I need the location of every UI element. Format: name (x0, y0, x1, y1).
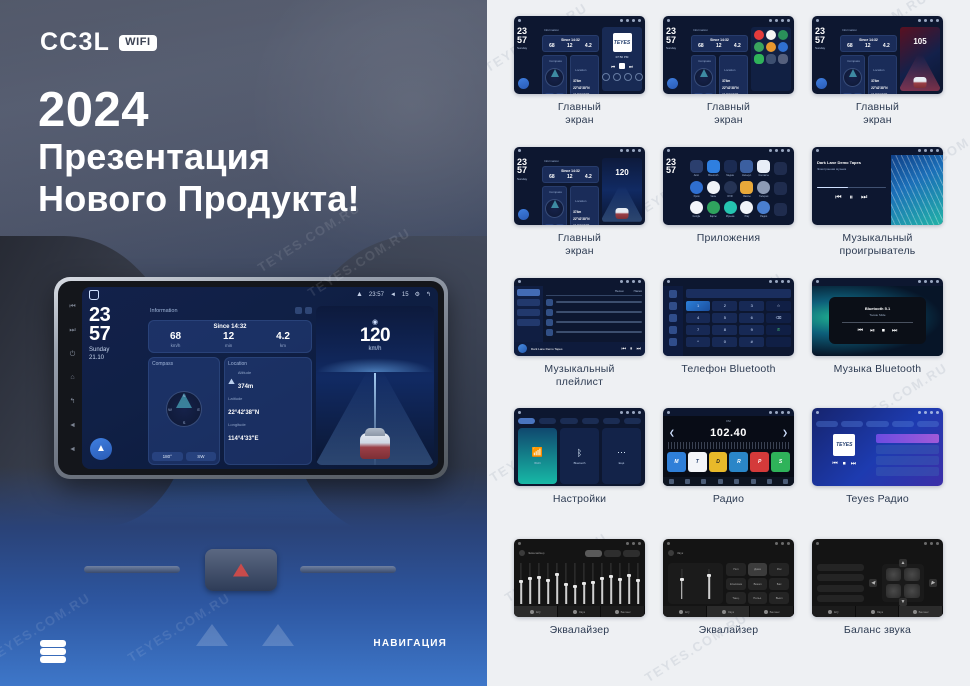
thumbnail-caption: Баланс звука (844, 624, 911, 637)
speed-value: 120 (316, 326, 434, 345)
track-title: Dark Lane Demo Tapes (817, 160, 886, 165)
speaker-balance-pad[interactable]: ▲ ▼ ◀ ▶ (869, 561, 937, 604)
eq-band (609, 563, 613, 604)
gallery-cell[interactable]: 📶Wi-Fi ᛒBluetooth ⋯Ещё Настройки (505, 408, 654, 539)
longitude-label: Longitude (228, 422, 308, 427)
hero-footer-label: НАВИГАЦИЯ (373, 638, 447, 649)
thumbnail-caption: Музыкальныйпроигрыватель (840, 232, 916, 258)
trip-stat-unit: km (276, 343, 290, 348)
search-icon (669, 314, 677, 322)
widgets-column: Information Since 14:32 68 (148, 306, 312, 465)
bluetooth-icon: ᛒ (577, 448, 582, 458)
speed-road-widget[interactable]: 105 (900, 27, 940, 91)
eq-band (528, 563, 532, 604)
location-altitude-row: ⛰ Altitude 374m (228, 370, 308, 393)
latitude-label: Latitude (228, 396, 308, 401)
bluetooth-version: Bluetooth 5.1 (865, 306, 890, 311)
balance-left-icon[interactable]: ◀ (869, 579, 877, 587)
screenshot-thumbnail[interactable]: 2357Sunday Information Since 14:32 68124… (514, 16, 645, 94)
thumbnail-caption: Главныйэкран (856, 101, 899, 127)
radio-frequency-scale[interactable] (668, 442, 789, 449)
trip-information-card[interactable]: Since 14:32 68 km/h 12 min (148, 320, 312, 353)
pause-icon: ⏸ (630, 346, 633, 352)
navigation-arrow-icon[interactable] (667, 78, 678, 89)
trip-since: Since 14:32 (149, 321, 311, 331)
screenshot-thumbnail[interactable]: 📶Wi-Fi ᛒBluetooth ⋯Ещё (514, 408, 645, 486)
speaker-front-left (886, 568, 902, 582)
call-history-icon (669, 326, 677, 334)
layers-icon (40, 640, 66, 662)
navigation-arrow-icon[interactable] (518, 209, 529, 220)
contacts-icon (669, 302, 677, 310)
presentation-slide: CC3L WIFI 2024 Презентация Нового Продук… (0, 0, 970, 686)
screenshot-thumbnail[interactable]: 2357Sunday Information Since 14:32 68124… (514, 147, 645, 225)
eq-tabs[interactable]: EQЗвукБаланс (663, 606, 794, 617)
thumb-status-bar (663, 16, 794, 24)
gallery-grid: 2357Sunday Information Since 14:32 68124… (487, 0, 970, 686)
volume-up-icon[interactable]: ◄ (69, 446, 76, 453)
prev-icon[interactable]: ⏮ (835, 194, 841, 202)
bluetooth-settings-card[interactable]: ᛒBluetooth (560, 428, 599, 484)
gallery-cell[interactable]: Звук ПопДжазРок КлассикаВокалБас Танц.По… (654, 539, 803, 670)
trip-stat: 68 km/h (170, 332, 181, 348)
thumbnail-caption: Эквалайзер (550, 624, 610, 637)
more-icon: ⋯ (617, 447, 626, 458)
next-icon[interactable]: ⏭ (861, 194, 867, 202)
hero-headline-line2: Нового Продукта! (38, 180, 360, 219)
radio-tuner[interactable]: ❮ 102.40 ❯ (663, 423, 794, 439)
radio-presets[interactable]: M T D R P S (663, 449, 794, 472)
screenshot-thumbnail[interactable]: TEYES ⏮⏹⏭ (812, 408, 943, 486)
status-bar-time: 23:57 (369, 292, 384, 298)
location-latitude-row: Latitude 22°42'38"N (228, 396, 308, 419)
next-icon: ⏭ (892, 328, 897, 335)
thumb-status-bar (812, 147, 943, 155)
location-card[interactable]: Location ⛰ Altitude 374m (224, 357, 312, 465)
thumbnail-caption: Главныйэкран (558, 101, 601, 127)
speaker-front-right (904, 568, 920, 582)
stop-icon (619, 63, 625, 69)
navigation-arrow-icon[interactable]: ▲ (90, 438, 112, 460)
radio-frequency: 102.40 (710, 427, 747, 439)
compass-readout: 180° SW (152, 452, 216, 461)
screenshot-thumbnail[interactable]: Bluetooth 5.1 Toosie Slide ⏮⏯ ⏹⏭ (812, 278, 943, 356)
prev-station-icon[interactable]: ❮ (669, 429, 675, 437)
eq-band (546, 563, 550, 604)
teyes-radio-list[interactable] (876, 434, 939, 484)
speed-road-widget[interactable]: ◉ 120 km/h (316, 306, 434, 465)
thumbnail-caption: Эквалайзер (699, 624, 759, 637)
trip-stat-unit: min (223, 343, 234, 348)
transport-controls[interactable]: ⏮ ⏸ ⏭ (817, 194, 886, 202)
navigation-arrow-icon[interactable] (518, 78, 529, 89)
more-settings-card[interactable]: ⋯Ещё (602, 428, 641, 484)
compass-mark-n: N (183, 393, 186, 398)
clock-minutes: 57 (86, 325, 144, 344)
trip-stat-unit: km/h (170, 343, 181, 348)
radio-toolbar[interactable] (663, 477, 794, 486)
home-icon[interactable]: ⌂ (70, 374, 74, 381)
status-bar-left (89, 290, 99, 300)
thumb-status-bar (514, 539, 645, 547)
compass-mark-s: S (183, 420, 186, 425)
compass-mark-e: E (197, 407, 200, 412)
eq-band (519, 563, 523, 604)
thumb-status-bar (514, 408, 645, 416)
trip-stats: 68 km/h 12 min 4.2 km (149, 331, 311, 352)
clock-weekday: Sunday (86, 347, 144, 355)
head-unit-device: ⏮ ⏭ ⏻ ⌂ ↰ ◄ ◄ ▲ 23:57 (54, 277, 448, 479)
trip-stat-value: 4.2 (276, 332, 290, 342)
play-pause-icon: ⏯ (870, 328, 875, 335)
information-title: Information (150, 308, 178, 314)
power-icon[interactable]: ⏻ (70, 351, 76, 358)
thumb-status-bar (812, 278, 943, 286)
balance-right-icon[interactable]: ▶ (929, 579, 937, 587)
eq-band (600, 563, 604, 604)
thumbnail-caption: Музыкальныйплейлист (544, 363, 614, 389)
screenshot-thumbnail[interactable]: ПесниПапки Dark Lane Demo Tapes ⏮ ⏸ ⏭ (514, 278, 645, 356)
brand-logo: CC3L WIFI (40, 30, 157, 55)
widgets-row-2: Compass N E S W (148, 357, 312, 465)
backspace-icon: ⌫ (766, 313, 791, 323)
eq-band (573, 563, 577, 604)
next-icon: ⏭ (629, 64, 633, 69)
thumbnail-caption: Приложения (697, 232, 760, 245)
air-vent-right (300, 566, 396, 573)
thumb-status-bar (812, 539, 943, 547)
thumbnail-caption: Teyes Радио (846, 493, 909, 506)
thumb-status-bar (812, 16, 943, 24)
transport-controls[interactable]: ⏮⏯ ⏹⏭ (858, 328, 898, 335)
navigation-arrow-icon[interactable] (816, 78, 827, 89)
screenshot-thumbnail[interactable]: Звук ПопДжазРок КлассикаВокалБас Танц.По… (663, 539, 794, 617)
gallery-cell[interactable]: Эквалайзер (505, 539, 654, 670)
settings-cards[interactable]: 📶Wi-Fi ᛒBluetooth ⋯Ещё (514, 428, 645, 484)
compass-dial-wrap: N E S W (152, 367, 216, 450)
dialer-pad[interactable]: 123☆ 456⌫ 789✆ *0# (683, 286, 794, 356)
pause-icon[interactable]: ⏸ (850, 194, 854, 202)
screenshot-thumbnail[interactable]: 2357Sunday Information Since 14:32 68124… (812, 16, 943, 94)
altitude-value: 374m (238, 384, 253, 390)
album-art (518, 344, 527, 353)
settings-icon[interactable]: ⚙ (415, 291, 420, 298)
thumbnail-caption: Настройки (553, 493, 606, 506)
gallery-cell[interactable]: ▲ ▼ ◀ ▶ EQЗвукБаланс Баланс звука (803, 539, 952, 670)
eq-tabs[interactable]: EQЗвукБаланс (514, 606, 645, 617)
settings-tabs[interactable] (514, 416, 645, 426)
thumb-status-bar (514, 278, 645, 286)
speaker-rear-right (904, 584, 920, 598)
thumb-status-bar (812, 408, 943, 416)
screenshot-thumbnail[interactable]: Эквалайзер (514, 539, 645, 617)
console-chevron-right (262, 624, 294, 646)
visualizer-panel (891, 155, 943, 225)
bt-track-title: Toosie Slide (869, 313, 885, 317)
hazard-light-button[interactable] (205, 549, 277, 591)
gallery-cell[interactable]: 2357Sunday Information Since 14:32 68124… (803, 16, 952, 147)
stop-icon: ⏹ (882, 328, 885, 335)
latitude-value: 22°42'38"N (228, 410, 259, 416)
head-unit-bezel: ⏮ ⏭ ⏻ ⌂ ↰ ◄ ◄ ▲ 23:57 (58, 281, 444, 475)
altitude-label: Altitude (238, 370, 253, 375)
balance-down-icon[interactable]: ▼ (899, 598, 907, 606)
eq-band (555, 563, 559, 604)
screenshot-thumbnail[interactable]: ▲ ▼ ◀ ▶ EQЗвукБаланс (812, 539, 943, 617)
gallery-cell[interactable]: 2357Sunday Information Since 14:32 68124… (505, 16, 654, 147)
apps-grid[interactable]: Авто Bluetooth Медиа Калькул. Контакты Х… (687, 157, 790, 222)
favorite-icon: ☆ (766, 301, 791, 311)
wifi-icon: 📶 (532, 447, 543, 458)
dialpad-icon (669, 290, 677, 298)
prev-track-icon[interactable]: ⏮ (69, 303, 75, 310)
refresh-icon[interactable] (295, 307, 302, 314)
status-bar-volume: 15 (402, 292, 409, 298)
thumb-status-bar (514, 147, 645, 155)
thumbnail-caption: Музыка Bluetooth (834, 363, 922, 376)
trip-stat: 4.2 km (276, 332, 290, 348)
call-icon: ✆ (766, 325, 791, 335)
eq-icon (519, 550, 525, 556)
hero-headline-line1: Презентация (38, 138, 270, 177)
eq-band (636, 563, 640, 604)
speed-unit: km/h (316, 346, 434, 352)
wifi-icon: ▲ (356, 291, 363, 298)
wifi-settings-card[interactable]: 📶Wi-Fi (518, 428, 557, 484)
expand-icon[interactable] (305, 307, 312, 314)
prev-icon: ⏮ (621, 346, 626, 352)
status-bar-right: ▲ 23:57 ◄ 15 ⚙ ↰ (356, 291, 431, 298)
thumb-status-bar (663, 408, 794, 416)
compass-dial: N E S W (166, 391, 202, 427)
brand-logo-text: CC3L (40, 30, 110, 55)
head-unit-screen[interactable]: ▲ 23:57 ◄ 15 ⚙ ↰ 23 57 Sunday (82, 287, 438, 469)
sound-icon (668, 550, 674, 556)
screenshot-thumbnail[interactable]: FM ❮ 102.40 ❯ M T D R P (663, 408, 794, 486)
wifi-badge: WIFI (119, 35, 157, 51)
track-artist: Электронная музыка (817, 167, 886, 171)
apps-shortcut-column[interactable] (751, 27, 791, 91)
eq-band (564, 563, 568, 604)
hero-year: 2024 (38, 86, 149, 135)
head-unit-side-buttons[interactable]: ⏮ ⏭ ⏻ ⌂ ↰ ◄ ◄ (63, 287, 82, 469)
compass-mark-w: W (168, 407, 172, 412)
thumb-status-bar (663, 278, 794, 286)
eq-band (591, 563, 595, 604)
now-playing-panel[interactable]: Dark Lane Demo Tapes Электронная музыка … (812, 155, 891, 225)
prev-icon: ⏮ (858, 328, 863, 335)
thumbnail-caption: Телефон Bluetooth (681, 363, 775, 376)
phone-number-input[interactable] (686, 289, 791, 298)
screen-status-bar: ▲ 23:57 ◄ 15 ⚙ ↰ (82, 287, 438, 302)
bluetooth-player-card[interactable]: Bluetooth 5.1 Toosie Slide ⏮⏯ ⏹⏭ (829, 297, 926, 345)
console-chevron-left (196, 624, 228, 646)
clock-date: 21.10 (86, 355, 144, 363)
volume-down-icon[interactable]: ◄ (69, 422, 76, 429)
screenshot-thumbnail[interactable]: Dark Lane Demo Tapes Электронная музыка … (812, 147, 943, 225)
album-art: TEYES (613, 33, 632, 52)
road-horizon-glow (316, 358, 434, 372)
gallery-cell[interactable]: Dark Lane Demo Tapes Электронная музыка … (803, 147, 952, 278)
back-icon[interactable]: ↰ (70, 398, 76, 405)
screenshot-thumbnail[interactable]: 2357 Авто Bluetooth Медиа Калькул. Конта… (663, 147, 794, 225)
teyes-radio-player[interactable]: TEYES ⏮⏹⏭ (816, 434, 873, 484)
eq-band (537, 563, 541, 604)
compass-card[interactable]: Compass N E S W (148, 357, 220, 465)
thumbnail-caption: Главныйэкран (558, 232, 601, 258)
stop-icon: ⏹ (843, 461, 846, 468)
car-3d-model (360, 433, 390, 459)
next-station-icon[interactable]: ❯ (782, 429, 788, 437)
speed-readout: ◉ 120 km/h (316, 318, 434, 352)
gallery-cell[interactable]: 123☆ 456⌫ 789✆ *0# Телефон Bluetooth (654, 278, 803, 409)
mountain-icon: ⛰ (228, 377, 235, 387)
thumb-status-bar (663, 539, 794, 547)
hero-panel: CC3L WIFI 2024 Презентация Нового Продук… (0, 0, 487, 686)
location-title: Location (228, 361, 308, 367)
longitude-value: 114°4'33"E (228, 436, 258, 442)
radio-band: FM (663, 416, 794, 423)
gallery-cell[interactable]: 2357 Авто Bluetooth Медиа Калькул. Конта… (654, 147, 803, 278)
compass-heading: 180° (152, 452, 183, 461)
teyes-radio-tabs[interactable] (812, 416, 943, 432)
speed-road-widget[interactable]: 120 (602, 158, 642, 222)
balance-options[interactable] (817, 562, 864, 604)
thumb-status-bar (514, 16, 645, 24)
trip-stat-value: 68 (170, 332, 181, 342)
progress-bar[interactable] (842, 322, 914, 323)
album-art: TEYES (833, 434, 855, 456)
clock-column: 23 57 Sunday 21.10 ▲ (86, 306, 144, 465)
compass-direction: SW (186, 452, 217, 461)
speaker-rear-left (886, 584, 902, 598)
information-actions[interactable] (295, 307, 312, 314)
dialer-sidebar[interactable] (663, 286, 683, 356)
air-vent-left (84, 566, 180, 573)
eq-band-sliders[interactable] (519, 563, 640, 604)
screenshot-thumbnail[interactable]: 123☆ 456⌫ 789✆ *0# (663, 278, 794, 356)
thumb-status-bar (663, 147, 794, 155)
volume-icon[interactable]: ◄ (390, 292, 396, 298)
balance-up-icon[interactable]: ▲ (899, 559, 907, 567)
back-icon[interactable]: ↰ (426, 291, 431, 298)
prev-icon: ⏮ (832, 461, 837, 468)
gallery-cell[interactable]: Bluetooth 5.1 Toosie Slide ⏮⏯ ⏹⏭ Музыка … (803, 278, 952, 409)
location-longitude-row: Longitude 114°4'33"E (228, 422, 308, 445)
eq-presets[interactable] (585, 550, 640, 557)
media-widget[interactable]: TEYES 07:50 PM ⏮⏭ (602, 27, 642, 91)
eq-band (627, 563, 631, 604)
thumbnail-caption: Главныйэкран (707, 101, 750, 127)
gallery-cell[interactable]: TEYES ⏮⏹⏭ Teyes Радио (803, 408, 952, 539)
thumbnail-caption: Радио (713, 493, 744, 506)
eq-tabs[interactable]: EQЗвукБаланс (812, 606, 943, 617)
settings-icon (669, 338, 677, 346)
sound-presets[interactable]: ПопДжазРок КлассикаВокалБас Танц.Польз.В… (726, 563, 789, 604)
level-sliders[interactable] (668, 563, 723, 604)
eq-band (582, 563, 586, 604)
trip-stat: 12 min (223, 332, 234, 348)
gallery-cell[interactable]: FM ❮ 102.40 ❯ M T D R P (654, 408, 803, 539)
speed-value: 120 (602, 168, 642, 177)
eq-band (618, 563, 622, 604)
information-header: Information (148, 306, 312, 316)
screen-body: 23 57 Sunday 21.10 ▲ Information (82, 302, 438, 469)
next-track-icon[interactable]: ⏭ (69, 327, 75, 334)
speed-value: 105 (900, 37, 940, 46)
playlist-mini-player[interactable]: Dark Lane Demo Tapes ⏮ ⏸ ⏭ (514, 342, 645, 356)
gallery-cell[interactable]: ПесниПапки Dark Lane Demo Tapes ⏮ ⏸ ⏭ (505, 278, 654, 409)
gallery-panel: TEYES.COM.RU TEYES.COM.RU TEYES.COM.RU T… (487, 0, 970, 686)
level-slider (680, 569, 684, 599)
home-icon[interactable] (89, 290, 99, 300)
next-icon: ⏭ (636, 346, 641, 352)
gallery-cell[interactable]: 2357Sunday Information Since 14:32 68124… (505, 147, 654, 278)
gallery-cell[interactable]: 2357Sunday Information Since 14:32 68124… (654, 16, 803, 147)
screenshot-thumbnail[interactable]: 2357Sunday Information Since 14:32 68124… (663, 16, 794, 94)
progress-bar[interactable] (817, 187, 886, 189)
apps-clock: 2357 (666, 158, 676, 175)
trip-stat-value: 12 (223, 332, 234, 342)
level-slider (707, 569, 711, 599)
prev-icon: ⏮ (611, 64, 615, 69)
next-icon: ⏭ (851, 461, 856, 468)
